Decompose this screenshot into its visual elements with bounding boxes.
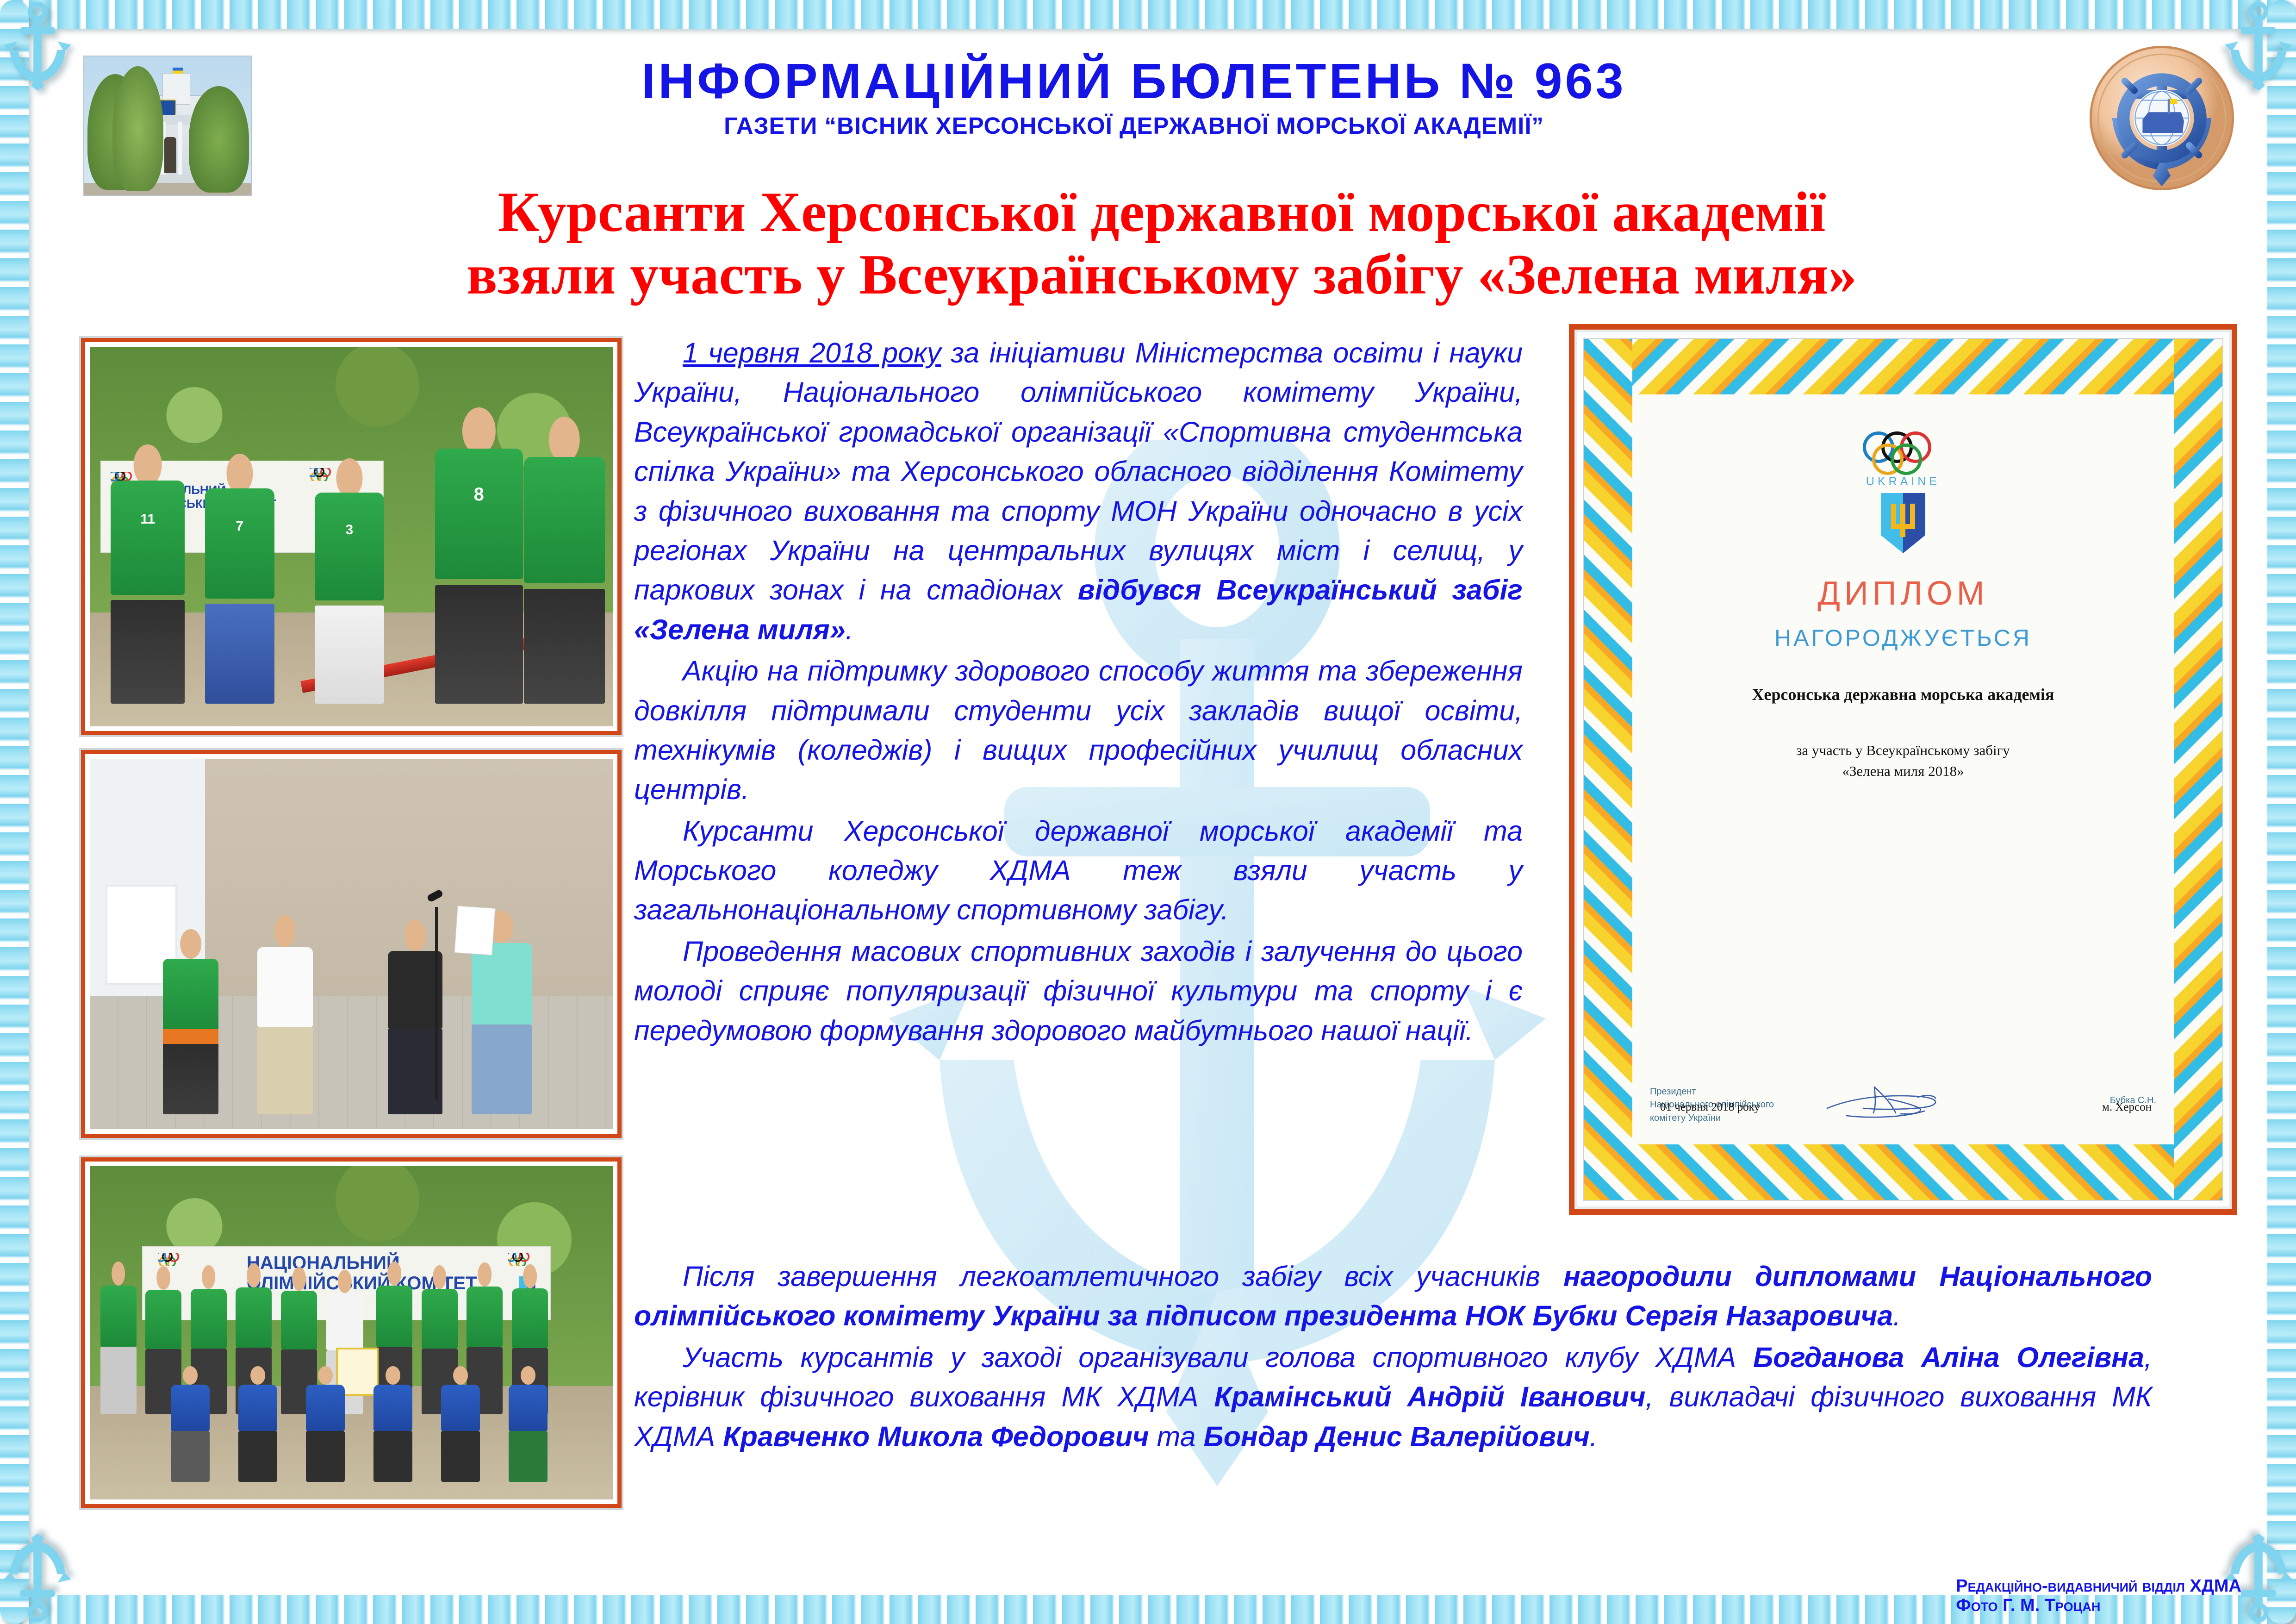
olympic-ukraine-label: UKRAINE <box>1637 475 2169 488</box>
ukraine-trident-icon <box>1881 493 1925 553</box>
diploma-recipient: Херсонська державна морська академія <box>1637 685 2169 704</box>
organizer-name-3: Кравченко Микола Федорович <box>723 1421 1149 1452</box>
article-date-lead: 1 червня 2018 року <box>683 337 941 369</box>
article-paragraph-3: Курсанти Херсонської державної морської … <box>634 812 1523 930</box>
academy-emblem-icon <box>2088 44 2236 192</box>
organizer-name-4: Бондар Денис Валерійович <box>1204 1421 1590 1452</box>
diploma-reason-line-2: «Зелена миля 2018» <box>1637 761 2169 782</box>
footer-credits: Редакційно-видавничий відділ ХДМА Фото Г… <box>1956 1576 2241 1616</box>
article-paragraph-1: 1 червня 2018 року за ініціативи Міністе… <box>634 333 1523 650</box>
organizer-name-2: Крамінський Андрій Іванович <box>1214 1381 1645 1412</box>
bulletin-header: ІНФОРМАЦІЙНИЙ БЮЛЕТЕНЬ № 963 ГАЗЕТИ “ВІС… <box>259 56 2009 139</box>
photo-runners: НАЦІОНАЛЬНИЙОЛІМПІЙСЬКИЙ КОМІТЕТУКРАЇНИ … <box>81 338 622 735</box>
bulletin-title: ІНФОРМАЦІЙНИЙ БЮЛЕТЕНЬ № 963 <box>259 56 2009 106</box>
article-p5-pre: Після завершення легкоатлетичного забігу… <box>683 1261 1563 1292</box>
diploma-ornament-right <box>2174 339 2222 1200</box>
corner-anchor-icon-top-left <box>3 2 72 90</box>
headline-line-1: Курсанти Херсонської державної морської … <box>199 181 2124 243</box>
olympic-rings-icon <box>1863 431 1944 472</box>
diploma-certificate: UKRAINE ДИПЛОМ НАГОРОДЖУЄТЬСЯ Херсонська… <box>1569 324 2237 1215</box>
article-body-wide: Після завершення легкоатлетичного забігу… <box>634 1257 2152 1458</box>
article-p6-pre: Участь курсантів у заході організували г… <box>683 1342 1753 1373</box>
footer-photographer: Фото Г. М. Троцан <box>1956 1596 2241 1616</box>
article-p1-rest: за ініціативи Міністерства освіти і наук… <box>634 337 1523 606</box>
article-paragraph-4: Проведення масових спортивних заходів і … <box>634 932 1523 1050</box>
photo-team-group: НАЦІОНАЛЬНИЙОЛІМПІЙСЬКИЙ КОМІТЕТ <box>81 1157 622 1508</box>
corner-anchor-icon-bottom-left <box>3 1534 72 1622</box>
diploma-ornament-left <box>1584 339 1632 1200</box>
president-line-1: Президент <box>1650 1085 1774 1098</box>
diploma-ornament-top <box>1584 339 2222 394</box>
newspaper-subtitle: ГАЗЕТИ “ВІСНИК ХЕРСОНСЬКОЇ ДЕРЖАВНОЇ МОР… <box>259 112 2009 139</box>
article-p5-tail: . <box>1893 1300 1901 1331</box>
article-p6-tail: . <box>1590 1421 1598 1452</box>
diploma-date: 01 червня 2018 року <box>1660 1101 1760 1114</box>
article-paragraph-2: Акцію на підтримку здорового способу жит… <box>634 651 1523 810</box>
headline-line-2: взяли участь у Всеукраїнському забігу «З… <box>199 243 2124 306</box>
diploma-subtitle: НАГОРОДЖУЄТЬСЯ <box>1637 625 2169 651</box>
diploma-ornament-bottom <box>1584 1144 2222 1200</box>
article-paragraph-6: Участь курсантів у заході організували г… <box>634 1338 2152 1456</box>
signature-icon <box>1819 1081 1967 1120</box>
footer-department: Редакційно-видавничий відділ ХДМА <box>1956 1576 2241 1596</box>
article-paragraph-5: Після завершення легкоатлетичного забігу… <box>634 1257 2152 1336</box>
diploma-title: ДИПЛОМ <box>1637 575 2169 612</box>
academy-building-photo <box>83 56 252 196</box>
article-p1-tail: . <box>846 614 853 645</box>
diploma-reason: за участь у Всеукраїнському забігу «Зеле… <box>1637 740 2169 782</box>
page-title: Курсанти Херсонської державної морської … <box>199 181 2124 306</box>
article-body-narrow: 1 червня 2018 року за ініціативи Міністе… <box>634 333 1523 1052</box>
diploma-city: м. Херсон <box>2102 1101 2152 1114</box>
organizer-name-1: Богданова Аліна Олегівна <box>1753 1342 2144 1373</box>
photo-award-ceremony <box>81 750 622 1138</box>
article-p6-mid3: та <box>1149 1421 1204 1452</box>
diploma-reason-line-1: за участь у Всеукраїнському забігу <box>1637 740 2169 761</box>
